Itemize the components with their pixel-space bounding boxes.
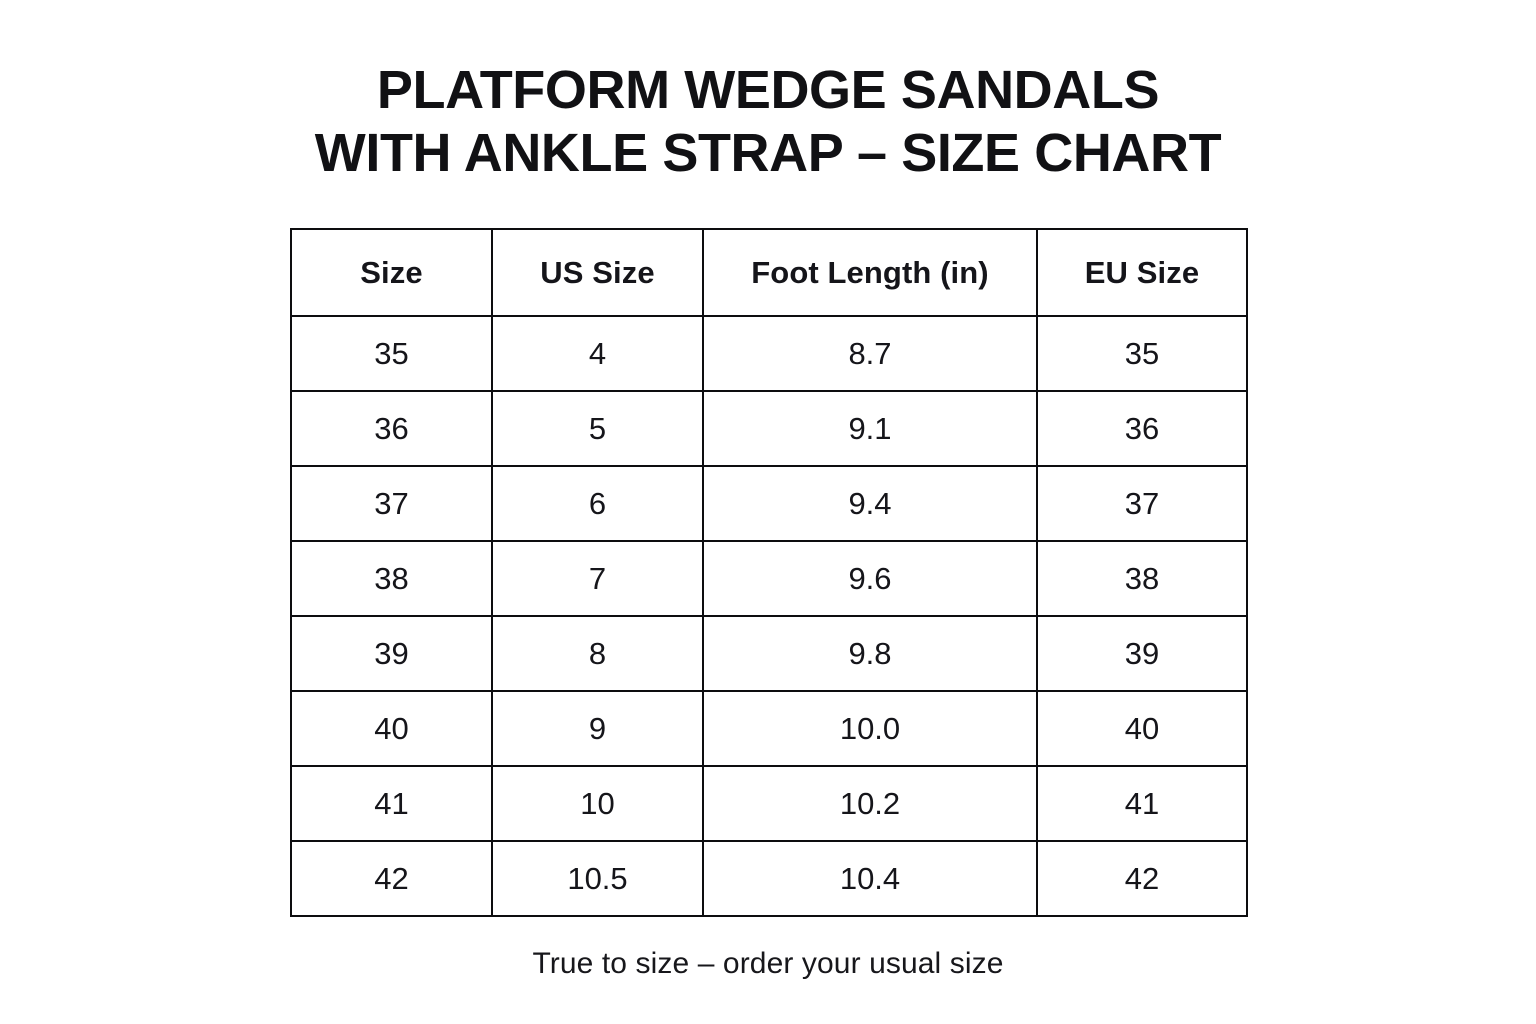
cell-eu-size: 35 [1037, 316, 1247, 391]
table-row: 40 9 10.0 40 [291, 691, 1247, 766]
cell-us-size: 10.5 [492, 841, 703, 916]
cell-size: 35 [291, 316, 492, 391]
cell-size: 37 [291, 466, 492, 541]
cell-eu-size: 40 [1037, 691, 1247, 766]
size-chart-table: Size US Size Foot Length (in) EU Size 35… [290, 228, 1248, 917]
table-body: 35 4 8.7 35 36 5 9.1 36 37 6 9.4 37 [291, 316, 1247, 916]
cell-size: 42 [291, 841, 492, 916]
cell-eu-size: 37 [1037, 466, 1247, 541]
column-header-us-size: US Size [492, 229, 703, 316]
cell-us-size: 7 [492, 541, 703, 616]
page-title-line-1: PLATFORM WEDGE SANDALS [315, 62, 1221, 119]
table-row: 37 6 9.4 37 [291, 466, 1247, 541]
cell-us-size: 4 [492, 316, 703, 391]
cell-us-size: 5 [492, 391, 703, 466]
cell-size: 36 [291, 391, 492, 466]
table-header-row: Size US Size Foot Length (in) EU Size [291, 229, 1247, 316]
cell-foot-length: 10.2 [703, 766, 1037, 841]
size-chart-page: PLATFORM WEDGE SANDALS WITH ANKLE STRAP … [0, 0, 1536, 1024]
table-row: 38 7 9.6 38 [291, 541, 1247, 616]
cell-size: 40 [291, 691, 492, 766]
column-header-eu-size: EU Size [1037, 229, 1247, 316]
page-title-line-2: WITH ANKLE STRAP – SIZE CHART [315, 125, 1221, 182]
cell-eu-size: 39 [1037, 616, 1247, 691]
cell-us-size: 10 [492, 766, 703, 841]
size-chart-table-wrapper: Size US Size Foot Length (in) EU Size 35… [290, 228, 1246, 917]
cell-us-size: 9 [492, 691, 703, 766]
table-row: 39 8 9.8 39 [291, 616, 1247, 691]
cell-eu-size: 41 [1037, 766, 1247, 841]
cell-foot-length: 8.7 [703, 316, 1037, 391]
column-header-foot-length: Foot Length (in) [703, 229, 1037, 316]
cell-eu-size: 38 [1037, 541, 1247, 616]
cell-foot-length: 9.4 [703, 466, 1037, 541]
table-row: 35 4 8.7 35 [291, 316, 1247, 391]
table-row: 36 5 9.1 36 [291, 391, 1247, 466]
cell-foot-length: 9.8 [703, 616, 1037, 691]
cell-foot-length: 9.1 [703, 391, 1037, 466]
cell-us-size: 8 [492, 616, 703, 691]
cell-eu-size: 36 [1037, 391, 1247, 466]
cell-size: 39 [291, 616, 492, 691]
cell-us-size: 6 [492, 466, 703, 541]
cell-eu-size: 42 [1037, 841, 1247, 916]
cell-foot-length: 9.6 [703, 541, 1037, 616]
column-header-size: Size [291, 229, 492, 316]
cell-size: 41 [291, 766, 492, 841]
table-row: 42 10.5 10.4 42 [291, 841, 1247, 916]
cell-foot-length: 10.4 [703, 841, 1037, 916]
fit-note: True to size – order your usual size [532, 947, 1003, 981]
table-row: 41 10 10.2 41 [291, 766, 1247, 841]
cell-foot-length: 10.0 [703, 691, 1037, 766]
page-title: PLATFORM WEDGE SANDALS WITH ANKLE STRAP … [315, 62, 1221, 182]
cell-size: 38 [291, 541, 492, 616]
